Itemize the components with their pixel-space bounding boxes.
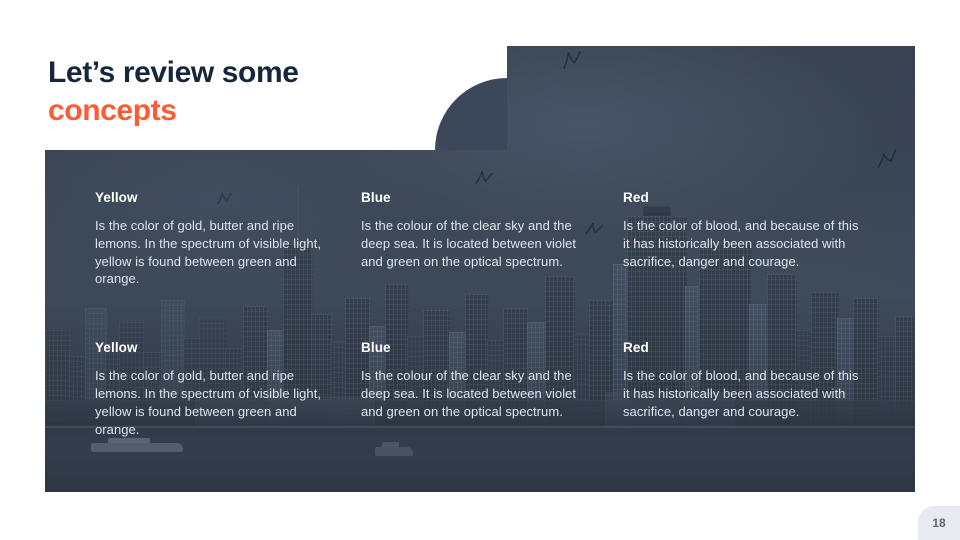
slide-margin-bottom xyxy=(0,492,960,540)
concept-heading: Yellow xyxy=(95,190,333,205)
concept-cell: Yellow Is the color of gold, butter and … xyxy=(95,190,333,288)
concept-body: Is the color of blood, and because of th… xyxy=(623,367,861,420)
concept-heading: Red xyxy=(623,190,861,205)
concept-heading: Blue xyxy=(361,190,599,205)
concept-cell: Yellow Is the color of gold, butter and … xyxy=(95,340,333,438)
page-number-badge: 18 xyxy=(918,506,960,540)
page-number-label: 18 xyxy=(932,516,945,530)
concave-corner-shape xyxy=(435,46,507,150)
concept-heading: Red xyxy=(623,340,861,355)
concept-cell: Red Is the color of blood, and because o… xyxy=(623,340,861,438)
slide-margin-right xyxy=(915,0,960,540)
title-line-accent: concepts xyxy=(48,92,428,130)
concept-cell: Blue Is the colour of the clear sky and … xyxy=(361,340,599,438)
concept-heading: Yellow xyxy=(95,340,333,355)
concept-body: Is the color of gold, butter and ripe le… xyxy=(95,217,333,288)
concept-cell: Red Is the color of blood, and because o… xyxy=(623,190,861,288)
concept-cell: Blue Is the colour of the clear sky and … xyxy=(361,190,599,288)
page-title: Let’s review some concepts xyxy=(48,54,428,130)
concept-body: Is the color of blood, and because of th… xyxy=(623,217,861,270)
concept-body: Is the colour of the clear sky and the d… xyxy=(361,217,599,270)
presentation-slide: Let’s review some concepts Yellow Is the… xyxy=(0,0,960,540)
concept-heading: Blue xyxy=(361,340,599,355)
concept-grid: Yellow Is the color of gold, butter and … xyxy=(95,190,885,438)
title-line-primary: Let’s review some xyxy=(48,56,299,89)
concept-body: Is the colour of the clear sky and the d… xyxy=(361,367,599,420)
concept-body: Is the color of gold, butter and ripe le… xyxy=(95,367,333,438)
